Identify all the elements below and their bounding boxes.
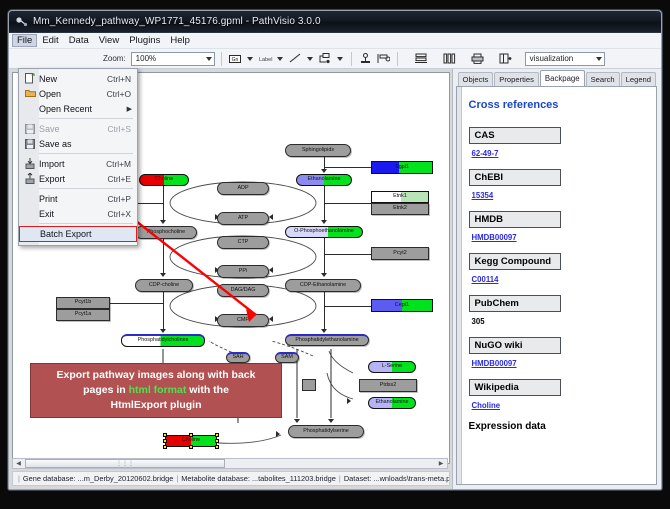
visualization-value: visualization bbox=[530, 54, 574, 63]
menu-help[interactable]: Help bbox=[165, 34, 195, 47]
menu-item-open-recent[interactable]: Open Recent ▶ bbox=[19, 101, 137, 116]
print-icon[interactable] bbox=[470, 51, 485, 66]
title-bar: Mm_Kennedy_pathway_WP1771_45176.gpml - P… bbox=[9, 11, 661, 33]
callout-line-2a: pages in bbox=[83, 384, 129, 396]
xref-db-kegg-compound: Kegg Compound bbox=[469, 253, 561, 270]
menu-edit[interactable]: Edit bbox=[37, 34, 63, 47]
menu-item-batch-export[interactable]: Batch Export bbox=[19, 226, 137, 242]
menu-accelerator: Ctrl+M bbox=[106, 159, 137, 169]
menu-item-open[interactable]: Open Ctrl+O bbox=[19, 86, 137, 101]
sidebar-icon[interactable] bbox=[498, 51, 513, 66]
label-dropdown-icon[interactable] bbox=[276, 52, 285, 66]
metabolite-database-value: ...tabolites_111203.bridge bbox=[252, 474, 336, 483]
menu-label: Import bbox=[39, 159, 106, 169]
visualization-combo[interactable]: visualization bbox=[525, 52, 605, 66]
gene-database-value: ...m_Derby_20120602.bridge bbox=[78, 474, 174, 483]
folder-icon bbox=[21, 89, 39, 98]
menu-item-export[interactable]: Export Ctrl+E bbox=[19, 171, 137, 186]
file-menu-dropdown: New Ctrl+N Open Ctrl+O Open Recent ▶ bbox=[18, 68, 138, 246]
tab-properties[interactable]: Properties bbox=[494, 72, 539, 86]
save-as-icon bbox=[21, 139, 39, 149]
columns-icon[interactable] bbox=[442, 51, 457, 66]
xref-db-nugo-wiki: NuGO wiki bbox=[469, 337, 561, 354]
cross-references-title: Cross references bbox=[469, 99, 644, 111]
menu-plugins[interactable]: Plugins bbox=[124, 34, 165, 47]
xref-value-pubchem: 305 bbox=[472, 317, 644, 326]
xref-db-wikipedia: Wikipedia bbox=[469, 379, 561, 396]
menu-bar: File Edit Data View Plugins Help bbox=[9, 33, 661, 49]
xref-value-kegg-compound[interactable]: C00114 bbox=[472, 275, 644, 284]
xref-value-nugo-wiki[interactable]: HMDB00097 bbox=[472, 359, 644, 368]
import-icon bbox=[21, 158, 39, 169]
menu-item-new[interactable]: New Ctrl+N bbox=[19, 71, 137, 86]
menu-file[interactable]: File bbox=[12, 34, 37, 47]
dataset-label: Dataset: bbox=[344, 474, 372, 483]
toolbar-divider-3 bbox=[397, 52, 398, 66]
menu-label: Open Recent bbox=[39, 104, 127, 114]
backpage-scroll-gutter[interactable] bbox=[457, 87, 462, 484]
chevron-down-icon bbox=[206, 57, 212, 61]
submenu-arrow-icon: ▶ bbox=[127, 105, 137, 113]
menu-label: New bbox=[39, 74, 107, 84]
menu-item-save: Save Ctrl+S bbox=[19, 121, 137, 136]
menu-data[interactable]: Data bbox=[64, 34, 94, 47]
menu-accelerator: Ctrl+P bbox=[107, 194, 137, 204]
window-title: Mm_Kennedy_pathway_WP1771_45176.gpml - P… bbox=[33, 16, 321, 27]
menu-divider-3 bbox=[23, 188, 133, 189]
annotation-callout: Export pathway images along with back pa… bbox=[30, 363, 282, 418]
toolbar-divider bbox=[221, 52, 222, 66]
tab-legend[interactable]: Legend bbox=[621, 72, 656, 86]
interaction-tool-icon[interactable] bbox=[318, 51, 333, 66]
zoom-label: Zoom: bbox=[103, 54, 126, 63]
menu-label: Open bbox=[39, 89, 107, 99]
zoom-combo[interactable]: 100% bbox=[131, 52, 215, 66]
menu-accelerator: Ctrl+E bbox=[107, 174, 137, 184]
datanode-dropdown-icon[interactable] bbox=[246, 52, 255, 66]
menu-accelerator: Ctrl+X bbox=[107, 209, 137, 219]
svg-text:Gn: Gn bbox=[232, 57, 239, 63]
annotation-text: Export pathway images along with back pa… bbox=[57, 368, 256, 413]
xref-db-pubchem: PubChem bbox=[469, 295, 561, 312]
xref-db-chebi: ChEBI bbox=[469, 169, 561, 186]
tab-backpage[interactable]: Backpage bbox=[540, 70, 585, 86]
menu-divider-2 bbox=[23, 153, 133, 154]
label-tool-icon[interactable]: Label bbox=[258, 51, 273, 66]
xref-value-hmdb[interactable]: HMDB00097 bbox=[472, 233, 644, 242]
menu-item-save-as[interactable]: Save as bbox=[19, 136, 137, 151]
menu-view[interactable]: View bbox=[94, 34, 124, 47]
menu-item-import[interactable]: Import Ctrl+M bbox=[19, 156, 137, 171]
menu-label: Exit bbox=[39, 209, 107, 219]
save-icon bbox=[21, 124, 39, 134]
interaction-dropdown-icon[interactable] bbox=[336, 52, 345, 66]
menu-label: Save bbox=[39, 124, 107, 134]
zoom-value: 100% bbox=[136, 54, 156, 63]
anchor-tool-icon[interactable] bbox=[358, 51, 373, 66]
pathvisio-icon bbox=[15, 15, 28, 28]
align-tool-icon[interactable] bbox=[376, 51, 391, 66]
status-bar: | Gene database: ...m_Derby_20120602.bri… bbox=[12, 471, 450, 486]
menu-divider bbox=[23, 118, 133, 119]
stack-icon[interactable] bbox=[414, 51, 429, 66]
menu-item-exit[interactable]: Exit Ctrl+X bbox=[19, 206, 137, 221]
tab-objects[interactable]: Objects bbox=[458, 72, 494, 86]
callout-line-3: HtmlExport plugin bbox=[111, 399, 202, 411]
line-dropdown-icon[interactable] bbox=[306, 52, 315, 66]
line-tool-icon[interactable] bbox=[288, 51, 303, 66]
svg-text:Label: Label bbox=[259, 57, 272, 63]
xref-db-hmdb: HMDB bbox=[469, 211, 561, 228]
menu-divider-4 bbox=[23, 223, 133, 224]
menu-accelerator: Ctrl+N bbox=[107, 74, 137, 84]
callout-line-2b: with the bbox=[186, 384, 229, 396]
pathvisio-window: Mm_Kennedy_pathway_WP1771_45176.gpml - P… bbox=[8, 10, 662, 490]
side-panel: Objects Properties Backpage Search Legen… bbox=[453, 69, 661, 489]
new-file-icon bbox=[21, 73, 39, 84]
xref-value-cas[interactable]: 62-49-7 bbox=[472, 149, 644, 158]
toolbar: Zoom: 100% Gn Label bbox=[9, 49, 661, 69]
menu-label: Batch Export bbox=[40, 229, 136, 239]
xref-value-wikipedia[interactable]: Choline bbox=[472, 401, 644, 410]
expression-data-title: Expression data bbox=[469, 421, 644, 432]
menu-label: Save as bbox=[39, 139, 131, 149]
metabolite-database-label: Metabolite database: bbox=[181, 474, 250, 483]
backpage-content: Cross references CAS 62-49-7 ChEBI 15354… bbox=[456, 86, 657, 485]
menu-accelerator: Ctrl+S bbox=[107, 124, 137, 134]
menu-label: Print bbox=[39, 194, 107, 204]
toolbar-divider-2 bbox=[351, 52, 352, 66]
menu-label: Export bbox=[39, 174, 107, 184]
datanode-tool-icon[interactable]: Gn bbox=[228, 51, 243, 66]
tab-search[interactable]: Search bbox=[586, 72, 620, 86]
desktop-background: Mm_Kennedy_pathway_WP1771_45176.gpml - P… bbox=[0, 0, 670, 509]
xref-value-chebi[interactable]: 15354 bbox=[472, 191, 644, 200]
gene-database-label: Gene database: bbox=[23, 474, 76, 483]
menu-item-print[interactable]: Print Ctrl+P bbox=[19, 191, 137, 206]
xref-db-cas: CAS bbox=[469, 127, 561, 144]
chevron-down-icon-2 bbox=[596, 57, 602, 61]
side-panel-tabs: Objects Properties Backpage Search Legen… bbox=[456, 72, 657, 86]
callout-highlight: html format bbox=[129, 384, 187, 396]
menu-accelerator: Ctrl+O bbox=[107, 89, 137, 99]
dataset-value: ...wnloads\trans-meta.pgex bbox=[373, 474, 449, 483]
callout-line-1: Export pathway images along with back bbox=[57, 369, 256, 381]
export-icon bbox=[21, 173, 39, 184]
